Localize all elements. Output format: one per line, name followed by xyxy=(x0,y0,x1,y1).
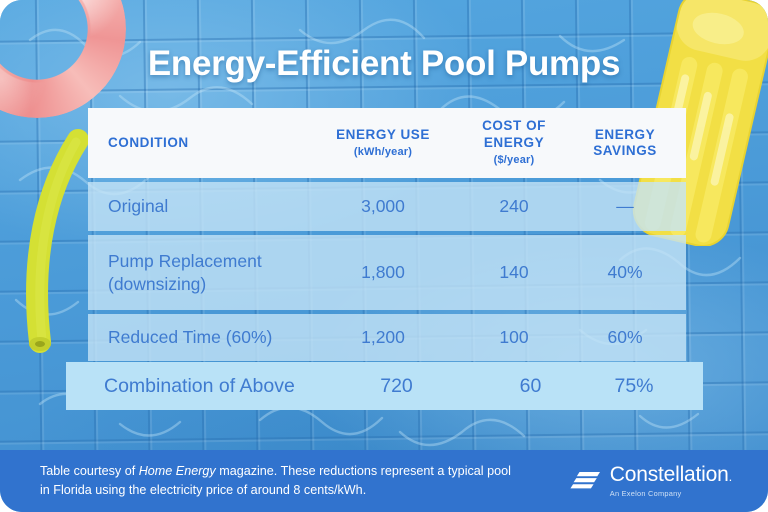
column-header-energy-savings: ENERGY SAVINGS xyxy=(578,127,672,160)
column-header-energy-use-label: ENERGY USE xyxy=(336,127,430,142)
cell-energy-use: 720 xyxy=(328,375,465,398)
cell-energy-savings: — xyxy=(578,195,672,217)
footer-note-source: Home Energy xyxy=(139,464,216,478)
cell-cost-of-energy: 100 xyxy=(450,326,578,348)
cell-cost-of-energy: 140 xyxy=(450,261,578,283)
cell-energy-savings: 75% xyxy=(596,375,672,398)
infographic-canvas: Energy-Efficient Pool Pumps CONDITION EN… xyxy=(0,0,768,512)
constellation-wordmark: Constellation . An Exelon Company xyxy=(610,464,732,498)
cell-energy-use: 1,800 xyxy=(316,261,450,283)
column-header-energy-use-unit: (kWh/year) xyxy=(316,146,450,159)
cell-condition: Pump Replacement (downsizing) xyxy=(108,250,316,294)
cell-condition: Original xyxy=(108,195,316,217)
constellation-logo[interactable]: Constellation . An Exelon Company xyxy=(570,464,732,498)
column-header-energy-use: ENERGY USE (kWh/year) xyxy=(316,127,450,160)
table-header-row: CONDITION ENERGY USE (kWh/year) COST OF … xyxy=(88,108,686,178)
constellation-mark-icon xyxy=(570,471,601,491)
cell-energy-use: 1,200 xyxy=(316,326,450,348)
column-header-cost-of-energy-unit: ($/year) xyxy=(450,154,578,167)
pool-noodle-icon xyxy=(24,128,96,368)
cell-condition: Combination of Above xyxy=(104,375,328,398)
footer-note-part1: Table courtesy of xyxy=(40,464,139,478)
cell-condition: Reduced Time (60%) xyxy=(108,326,316,348)
table-row: Original 3,000 240 — xyxy=(88,182,686,231)
footer-note: Table courtesy of Home Energy magazine. … xyxy=(40,462,520,499)
column-header-cost-of-energy: COST OF ENERGY ($/year) xyxy=(450,118,578,167)
column-header-condition: CONDITION xyxy=(108,135,316,151)
cell-cost-of-energy: 240 xyxy=(450,195,578,217)
column-header-cost-of-energy-label: COST OF ENERGY xyxy=(482,118,546,149)
page-title: Energy-Efficient Pool Pumps xyxy=(0,44,768,84)
cell-energy-savings: 60% xyxy=(578,326,672,348)
column-header-condition-label: CONDITION xyxy=(108,135,189,150)
brand-name: Constellation xyxy=(610,464,729,485)
table-row-highlighted: Combination of Above 720 60 75% xyxy=(66,362,703,410)
cell-cost-of-energy: 60 xyxy=(465,375,596,398)
brand-period: . xyxy=(729,470,732,483)
table-row: Pump Replacement (downsizing) 1,800 140 … xyxy=(88,235,686,310)
column-header-energy-savings-label: ENERGY SAVINGS xyxy=(593,127,657,158)
cell-energy-savings: 40% xyxy=(578,261,672,283)
footer-bar: Table courtesy of Home Energy magazine. … xyxy=(0,450,768,512)
table-row: Reduced Time (60%) 1,200 100 60% xyxy=(88,314,686,361)
cell-energy-use: 3,000 xyxy=(316,195,450,217)
brand-tagline: An Exelon Company xyxy=(610,489,732,498)
comparison-table: CONDITION ENERGY USE (kWh/year) COST OF … xyxy=(88,108,686,361)
